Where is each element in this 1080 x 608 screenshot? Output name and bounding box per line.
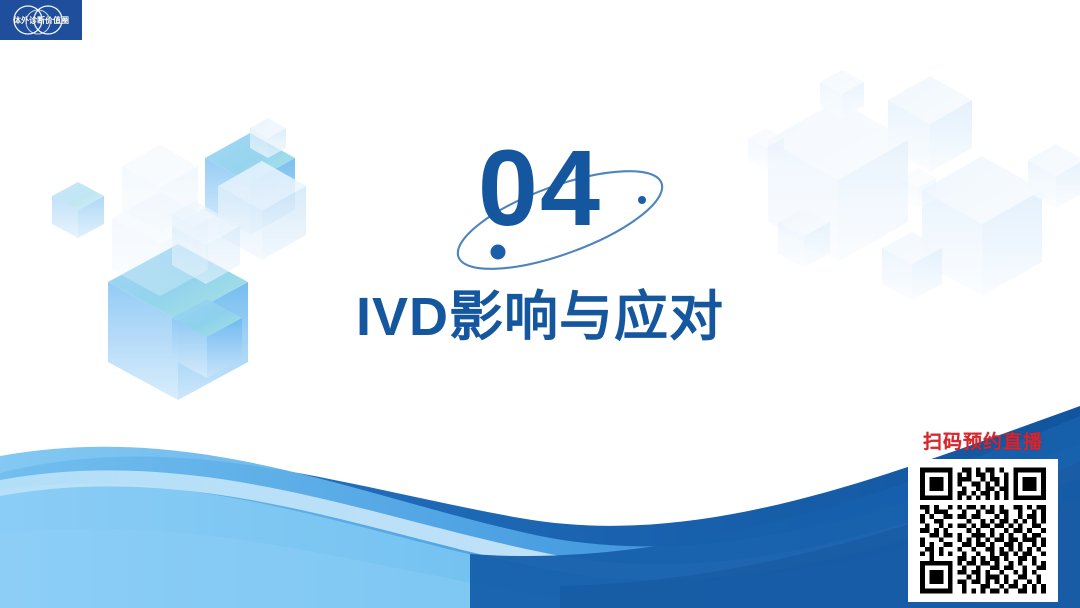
brand-logo-text: 体外诊断价值圈 <box>0 0 82 40</box>
qr-block[interactable]: 扫码预约直播 <box>900 431 1066 602</box>
qr-caption: 扫码预约直播 <box>900 431 1066 455</box>
qr-code-frame[interactable] <box>908 459 1058 602</box>
qr-code-icon[interactable] <box>912 463 1054 598</box>
section-number: 04 <box>0 134 1080 242</box>
section-heading: IVD影响与应对 <box>0 287 1080 347</box>
orbit-ellipse-icon <box>440 150 680 290</box>
brand-logo: 体外诊断价值圈 <box>0 0 82 40</box>
slide-root: 体外诊断价值圈 04 IVD影响与应对 扫码预约直播 <box>0 0 1080 608</box>
